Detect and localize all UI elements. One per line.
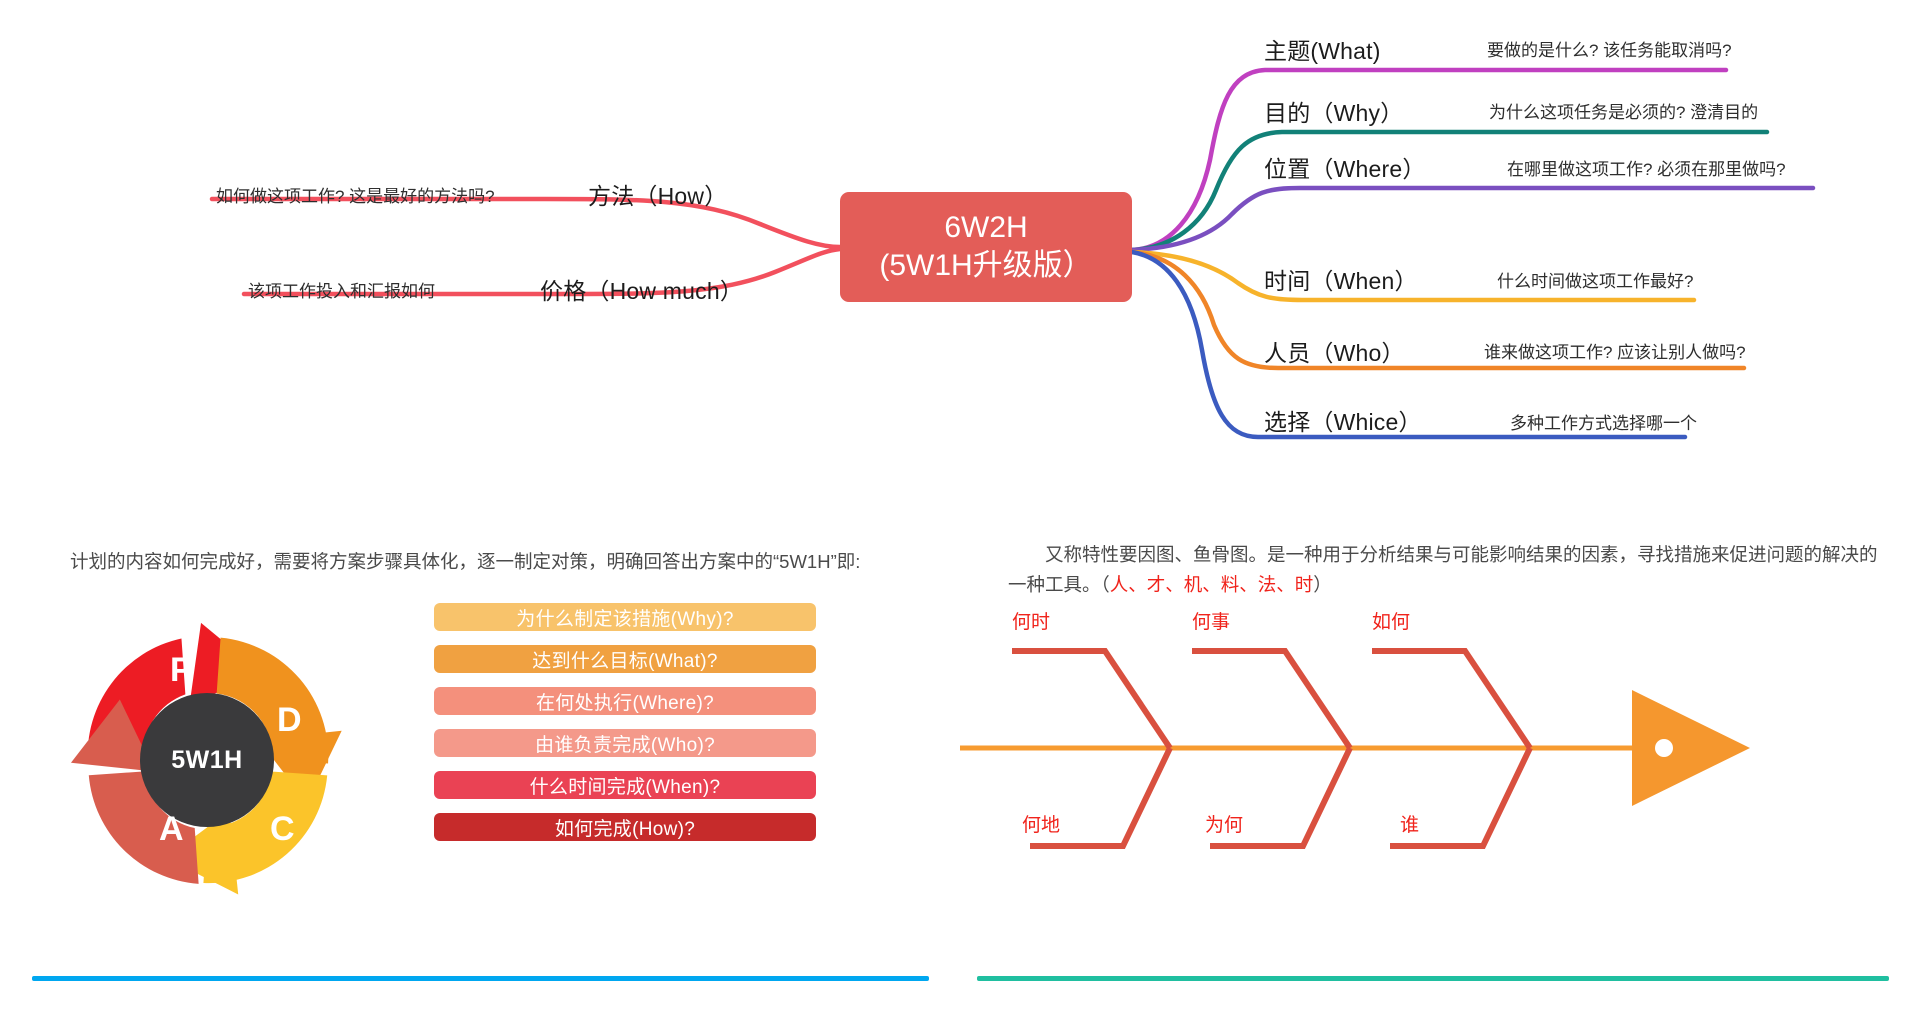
- branch-label-where[interactable]: 位置（Where）: [1264, 150, 1426, 184]
- branch-detail-what: 要做的是什么? 该任务能取消吗?: [1487, 36, 1732, 61]
- fishbone-diagram: 何时 何事 如何 何地 为何 谁: [960, 600, 1920, 930]
- fishbone-bone-upper-3: [1372, 651, 1530, 748]
- right-intro-highlight: 人、才、机、料、法、时: [1110, 574, 1314, 595]
- bar-how[interactable]: 如何完成(How)?: [434, 813, 816, 841]
- branch-detail-when: 什么时间做这项工作最好?: [1497, 267, 1693, 292]
- branch-detail-who: 谁来做这项工作? 应该让别人做吗?: [1484, 338, 1746, 363]
- branch-label-whice[interactable]: 选择（Whice）: [1264, 403, 1422, 437]
- right-intro-part2: ）: [1313, 574, 1332, 595]
- bar-why[interactable]: 为什么制定该措施(Why)?: [434, 603, 816, 631]
- panel-5w1h: 计划的内容如何完成好，需要将方案步骤具体化，逐一制定对策，明确回答出方案中的“5…: [0, 520, 960, 960]
- bar-where[interactable]: 在何处执行(Where)?: [434, 687, 816, 715]
- branch-label-why[interactable]: 目的（Why）: [1264, 94, 1403, 128]
- bar-what[interactable]: 达到什么目标(What)?: [434, 645, 816, 673]
- panel-fishbone: 又称特性要因图、鱼骨图。是一种用于分析结果与可能影响结果的因素，寻找措施来促进问…: [960, 520, 1920, 960]
- fishbone-head-eye: [1655, 739, 1673, 757]
- center-node-line2: (5W1H升级版）: [879, 247, 1092, 285]
- fishbone-label-who[interactable]: 谁: [1400, 810, 1419, 837]
- center-node-line1: 6W2H: [944, 209, 1027, 247]
- bar-when[interactable]: 什么时间完成(When)?: [434, 771, 816, 799]
- pdca-letter-d: D: [277, 701, 302, 740]
- fishbone-label-what[interactable]: 何事: [1192, 607, 1230, 634]
- divider-right: [977, 976, 1889, 981]
- branch-path-why: [1132, 132, 1767, 250]
- fishbone-label-how[interactable]: 如何: [1372, 607, 1410, 634]
- mindmap-center-node[interactable]: 6W2H (5W1H升级版）: [840, 192, 1132, 302]
- branch-detail-how-much: 该项工作投入和汇报如何: [248, 277, 435, 302]
- pdca-letter-c: C: [270, 810, 295, 849]
- pdca-wheel-diagram: 5W1H P D C A: [62, 615, 352, 905]
- pdca-letter-p: P: [170, 651, 193, 690]
- slide-canvas: 6W2H (5W1H升级版） 方法（How） 如何做这项工作? 这是最好的方法吗…: [0, 0, 1920, 1015]
- branch-label-how[interactable]: 方法（How）: [588, 177, 727, 211]
- pdca-letter-a: A: [159, 810, 184, 849]
- fishbone-head-arrow: [1632, 690, 1750, 806]
- fishbone-label-when[interactable]: 何时: [1012, 607, 1050, 634]
- fishbone-bone-upper-1: [1012, 651, 1170, 748]
- left-panel-intro-text: 计划的内容如何完成好，需要将方案步骤具体化，逐一制定对策，明确回答出方案中的“5…: [70, 547, 900, 577]
- divider-left: [32, 976, 929, 981]
- branch-label-how-much[interactable]: 价格（How much）: [540, 272, 743, 306]
- pdca-center-label: 5W1H: [140, 693, 274, 827]
- branch-label-when[interactable]: 时间（When）: [1264, 262, 1418, 296]
- branch-detail-how: 如何做这项工作? 这是最好的方法吗?: [216, 182, 495, 207]
- branch-detail-where: 在哪里做这项工作? 必须在那里做吗?: [1507, 155, 1786, 180]
- branch-path-where: [1132, 188, 1813, 250]
- right-panel-intro-text: 又称特性要因图、鱼骨图。是一种用于分析结果与可能影响结果的因素，寻找措施来促进问…: [1008, 540, 1888, 599]
- branch-label-who[interactable]: 人员（Who）: [1264, 334, 1405, 368]
- bar-who[interactable]: 由谁负责完成(Who)?: [434, 729, 816, 757]
- branch-detail-whice: 多种工作方式选择哪一个: [1510, 409, 1697, 434]
- branch-label-what[interactable]: 主题(What): [1264, 32, 1381, 66]
- mindmap-6w2h: 6W2H (5W1H升级版） 方法（How） 如何做这项工作? 这是最好的方法吗…: [0, 0, 1920, 470]
- fishbone-bones: [960, 600, 1920, 930]
- branch-detail-why: 为什么这项任务是必须的? 澄清目的: [1489, 98, 1758, 123]
- fishbone-label-why[interactable]: 为何: [1205, 810, 1243, 837]
- 5w1h-bar-list: 为什么制定该措施(Why)? 达到什么目标(What)? 在何处执行(Where…: [434, 603, 816, 855]
- fishbone-label-where[interactable]: 何地: [1022, 810, 1060, 837]
- fishbone-bone-upper-2: [1192, 651, 1350, 748]
